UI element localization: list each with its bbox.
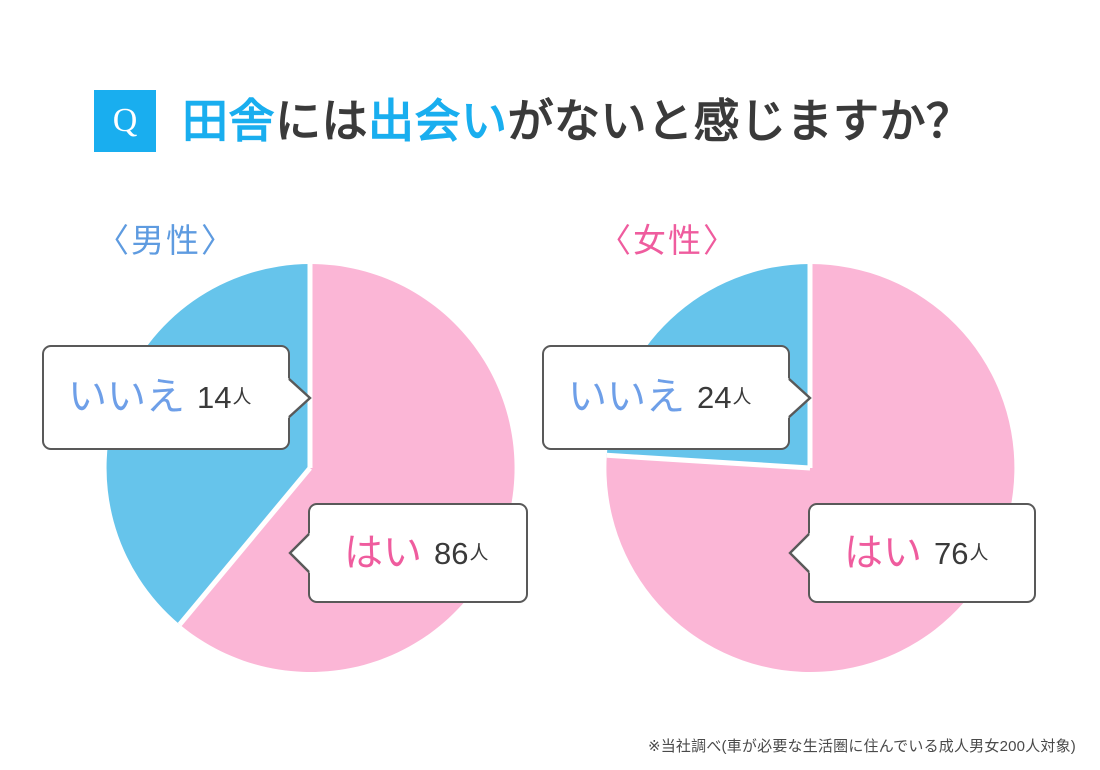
callout-female-yes-value: 76 (934, 538, 968, 569)
callout-female-yes-label: はい (844, 534, 922, 573)
callout-tail-left-icon (288, 533, 312, 573)
title-plain-2: がないと感じますか？ (508, 95, 973, 147)
title-highlight-countryside: 田舎 (182, 95, 275, 147)
callout-female-no: いいえ 24 人 (542, 345, 790, 450)
question-header: Q 田舎には出会いがないと感じますか？ (94, 82, 973, 160)
pie-chart-male-svg (105, 263, 515, 673)
infographic-canvas: Q 田舎には出会いがないと感じますか？ 〈男性〉 〈女性〉 いいえ 1 (0, 0, 1100, 770)
source-footnote: ※当社調べ(車が必要な生活圏に住んでいる成人男女200人対象) (648, 739, 1076, 754)
callout-male-yes-value: 86 (434, 538, 468, 569)
callout-male-no-unit: 人 (233, 388, 252, 407)
callout-tail-right-icon (788, 378, 812, 418)
question-badge: Q (94, 90, 156, 152)
callout-tail-right-icon (288, 378, 312, 418)
callout-male-no-value: 14 (197, 382, 231, 413)
callout-male-yes-unit: 人 (470, 544, 489, 563)
chart-caption-female: 〈女性〉 (598, 224, 738, 257)
title-highlight-encounter: 出会い (368, 95, 508, 147)
callout-female-yes-unit: 人 (970, 544, 989, 563)
callout-tail-left-icon (788, 533, 812, 573)
callout-female-yes: はい 76 人 (808, 503, 1036, 603)
title-plain-1: には (275, 95, 368, 147)
pie-chart-female-svg (605, 263, 1015, 673)
chart-caption-male: 〈男性〉 (96, 224, 236, 257)
page-title: 田舎には出会いがないと感じますか？ (182, 98, 973, 144)
callout-female-no-unit: 人 (733, 388, 752, 407)
pie-chart-female (605, 263, 1015, 673)
callout-female-no-value: 24 (697, 382, 731, 413)
callout-male-no-label: いいえ (68, 378, 185, 417)
callout-male-yes: はい 86 人 (308, 503, 528, 603)
callout-female-no-label: いいえ (568, 378, 685, 417)
callout-male-yes-label: はい (344, 534, 422, 573)
callout-male-no: いいえ 14 人 (42, 345, 290, 450)
pie-chart-male (105, 263, 515, 673)
